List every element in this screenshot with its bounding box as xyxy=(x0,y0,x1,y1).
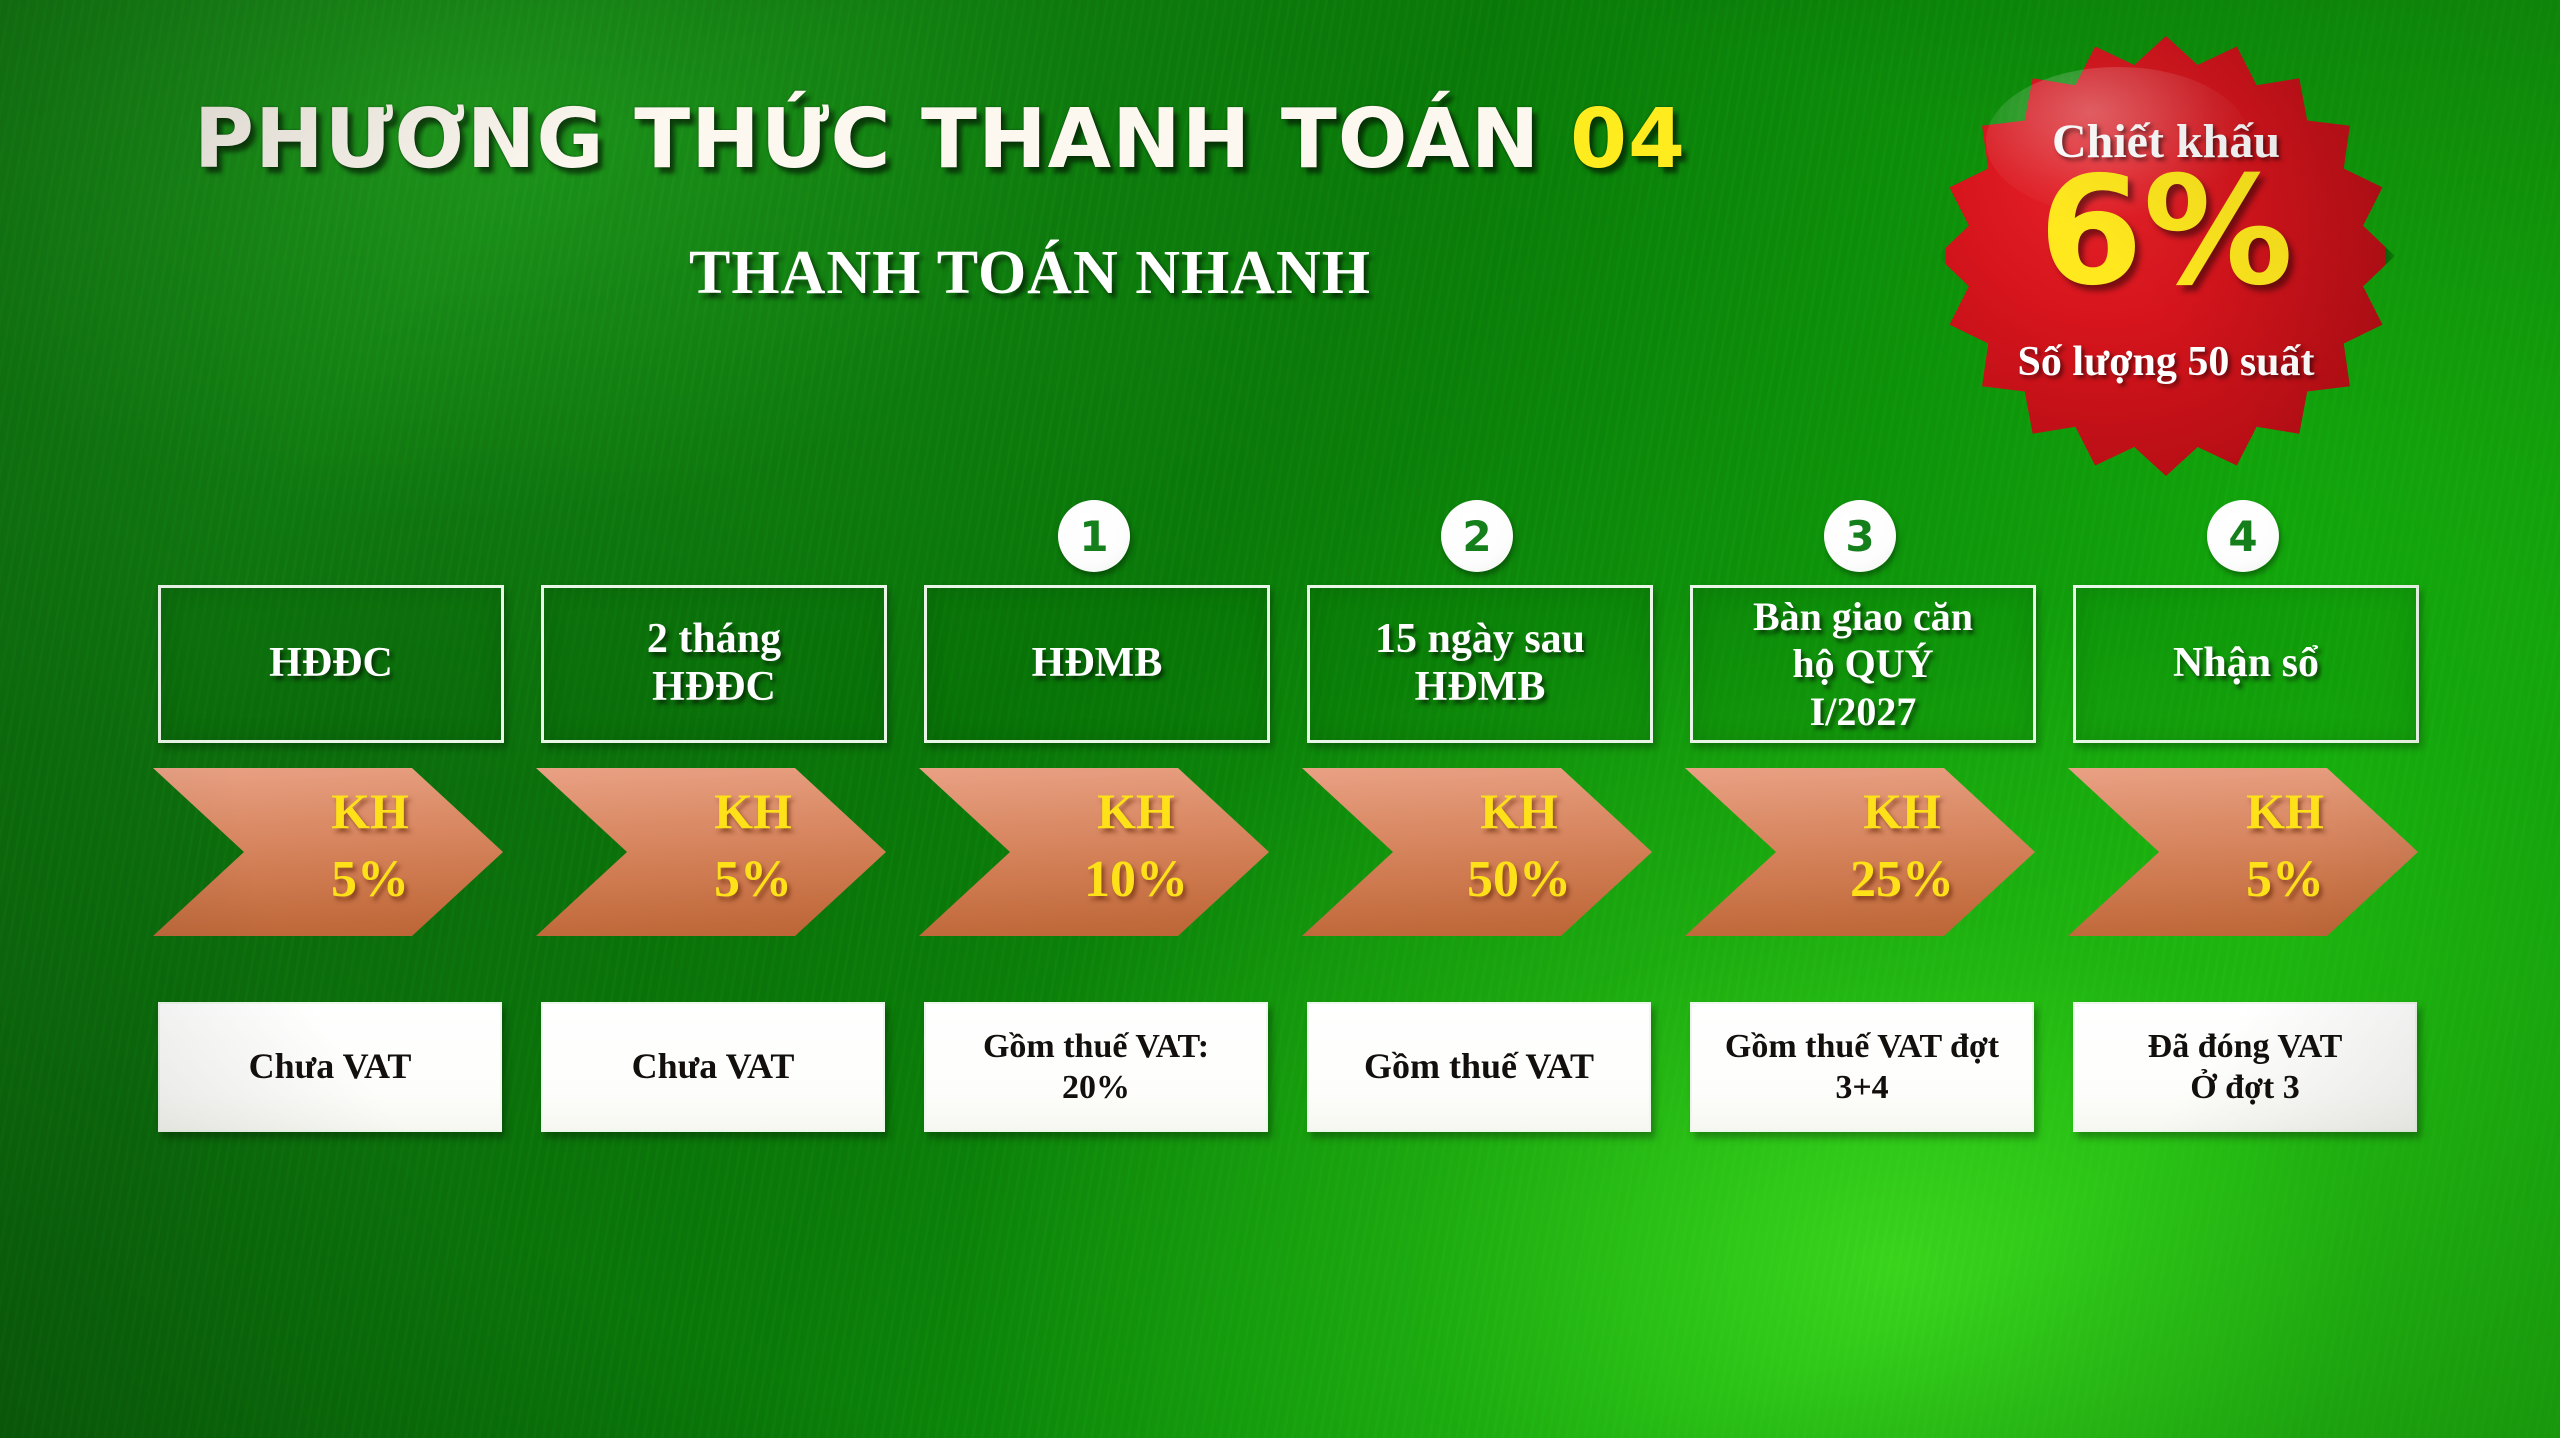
payment-chevron-5: KH 25% xyxy=(1685,768,2035,936)
milestone-box-1: HĐĐC xyxy=(158,585,504,743)
payment-column-3: 1 HĐMB KH 10% Gồm thuế VAT: 20% xyxy=(924,500,1264,1160)
payment-chevron-6: KH 5% xyxy=(2068,768,2418,936)
payer-label-3: KH xyxy=(1038,782,1234,840)
payer-label-2: KH xyxy=(655,782,851,840)
note-box-2: Chưa VAT xyxy=(541,1002,885,1132)
step-number-circle-1: 1 xyxy=(1058,500,1130,572)
note-box-1: Chưa VAT xyxy=(158,1002,502,1132)
page-title-text: PHƯƠNG THỨC THANH TOÁN xyxy=(194,92,1570,187)
note-label-3: Gồm thuế VAT: 20% xyxy=(983,1026,1209,1109)
milestone-label-4: 15 ngày sau HĐMB xyxy=(1375,616,1585,712)
slide-canvas: PHƯƠNG THỨC THANH TOÁN 04 THANH TOÁN NHA… xyxy=(0,0,2560,1438)
step-number-circle-4: 4 xyxy=(2207,500,2279,572)
badge-percent: 6% xyxy=(1946,154,2386,312)
milestone-box-2: 2 tháng HĐĐC xyxy=(541,585,887,743)
milestone-box-6: Nhận sổ xyxy=(2073,585,2419,743)
note-box-5: Gồm thuế VAT đợt 3+4 xyxy=(1690,1002,2034,1132)
discount-badge: Chiết khấu 6% Số lượng 50 suất xyxy=(1946,36,2386,476)
page-title: PHƯƠNG THỨC THANH TOÁN 04 xyxy=(0,92,1880,187)
milestone-box-5: Bàn giao căn hộ QUÝ I/2027 xyxy=(1690,585,2036,743)
milestone-label-1: HĐĐC xyxy=(269,640,393,688)
payment-chevron-3: KH 10% xyxy=(919,768,1269,936)
note-label-4: Gồm thuế VAT xyxy=(1364,1045,1594,1089)
payment-column-1: HĐĐC KH 5% Chưa VAT xyxy=(158,500,498,1160)
note-label-5: Gồm thuế VAT đợt 3+4 xyxy=(1725,1026,1999,1109)
milestone-box-3: HĐMB xyxy=(924,585,1270,743)
page-subtitle: THANH TOÁN NHANH xyxy=(0,238,2060,309)
payment-column-2: 2 tháng HĐĐC KH 5% Chưa VAT xyxy=(541,500,881,1160)
payment-chevron-4: KH 50% xyxy=(1302,768,1652,936)
payment-column-6: 4 Nhận sổ KH 5% Đã đóng VAT Ở đợt 3 xyxy=(2073,500,2413,1160)
step-number-circle-2: 2 xyxy=(1441,500,1513,572)
payment-chevron-2: KH 5% xyxy=(536,768,886,936)
note-label-2: Chưa VAT xyxy=(632,1045,795,1089)
milestone-box-4: 15 ngày sau HĐMB xyxy=(1307,585,1653,743)
payer-label-6: KH xyxy=(2187,782,2383,840)
payment-percent-3: 10% xyxy=(1038,850,1234,909)
payer-label-1: KH xyxy=(272,782,468,840)
payment-column-4: 2 15 ngày sau HĐMB KH 50% Gồm thuế VAT xyxy=(1307,500,1647,1160)
milestone-label-6: Nhận sổ xyxy=(2173,640,2319,688)
note-label-1: Chưa VAT xyxy=(249,1045,412,1089)
step-number-circle-3: 3 xyxy=(1824,500,1896,572)
payment-chevron-1: KH 5% xyxy=(153,768,503,936)
payment-percent-6: 5% xyxy=(2187,850,2383,909)
note-box-3: Gồm thuế VAT: 20% xyxy=(924,1002,1268,1132)
payment-schedule-flow: HĐĐC KH 5% Chưa VAT 2 tháng HĐĐC KH 5% C… xyxy=(158,500,2406,1160)
payment-percent-1: 5% xyxy=(272,850,468,909)
badge-label-bottom: Số lượng 50 suất xyxy=(1946,338,2386,386)
milestone-label-5: Bàn giao căn hộ QUÝ I/2027 xyxy=(1753,593,1973,735)
note-label-6: Đã đóng VAT Ở đợt 3 xyxy=(2148,1026,2343,1109)
payment-percent-4: 50% xyxy=(1421,850,1617,909)
payment-percent-2: 5% xyxy=(655,850,851,909)
payer-label-4: KH xyxy=(1421,782,1617,840)
milestone-label-3: HĐMB xyxy=(1032,640,1163,688)
note-box-6: Đã đóng VAT Ở đợt 3 xyxy=(2073,1002,2417,1132)
note-box-4: Gồm thuế VAT xyxy=(1307,1002,1651,1132)
milestone-label-2: 2 tháng HĐĐC xyxy=(647,616,781,712)
payment-column-5: 3 Bàn giao căn hộ QUÝ I/2027 KH 25% Gồm … xyxy=(1690,500,2030,1160)
page-title-number: 04 xyxy=(1570,92,1686,187)
payer-label-5: KH xyxy=(1804,782,2000,840)
payment-percent-5: 25% xyxy=(1804,850,2000,909)
